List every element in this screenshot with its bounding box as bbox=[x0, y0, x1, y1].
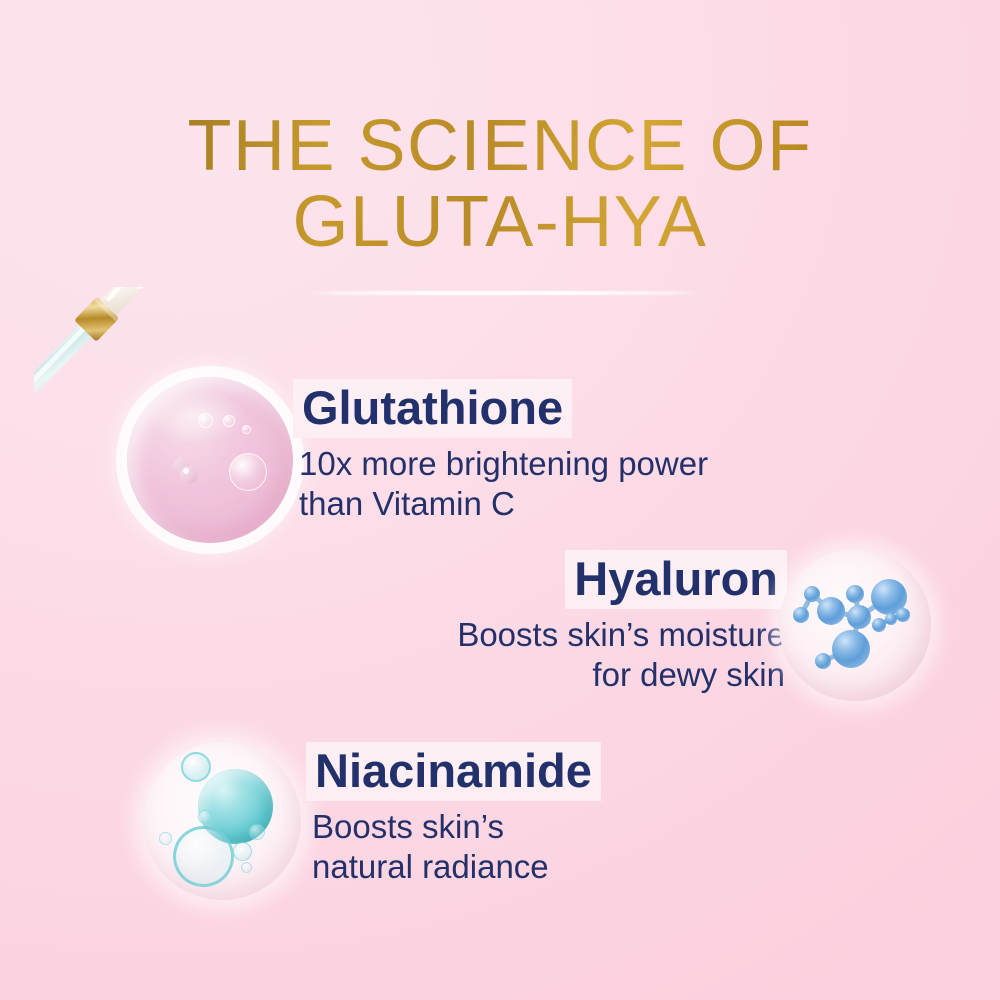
title-line-2: GLUTA-HYA bbox=[0, 184, 1000, 260]
bubble-small-6 bbox=[241, 862, 252, 873]
poster-canvas: THE SCIENCE OF GLUTA-HYA bbox=[0, 0, 1000, 1000]
title-line-1: THE SCIENCE OF bbox=[0, 108, 1000, 184]
ingredient-block-glutathione: Glutathione 10x more brightening power t… bbox=[293, 379, 708, 524]
title-divider bbox=[308, 291, 700, 295]
ingredient-name-glutathione: Glutathione bbox=[293, 379, 572, 438]
bubble-small-2 bbox=[233, 842, 252, 861]
bubble-small-5 bbox=[159, 832, 172, 845]
ingredient-description-glutathione: 10x more brightening power than Vitamin … bbox=[299, 444, 708, 524]
bubble-small-1 bbox=[181, 752, 211, 782]
ingredient-name-niacinamide: Niacinamide bbox=[306, 742, 601, 801]
ingredient-block-hyaluron: Hyaluron Boosts skin’s moisture for dewy… bbox=[457, 550, 787, 695]
molecule-icon bbox=[779, 549, 931, 701]
bubble-ring bbox=[173, 826, 234, 887]
molecule-structure bbox=[779, 549, 931, 701]
page-title: THE SCIENCE OF GLUTA-HYA bbox=[0, 108, 1000, 260]
ingredient-description-niacinamide: Boosts skin’s natural radiance bbox=[312, 807, 601, 887]
ingredient-block-niacinamide: Niacinamide Boosts skin’s natural radian… bbox=[306, 742, 601, 887]
dropper-icon bbox=[34, 287, 264, 517]
water-bubbles-icon bbox=[143, 742, 301, 900]
bubble-small-3 bbox=[249, 824, 265, 840]
ingredient-description-hyaluron: Boosts skin’s moisture for dewy skin bbox=[457, 615, 785, 695]
bubble-small-4 bbox=[198, 810, 212, 824]
serum-dropper-dish-icon bbox=[30, 285, 330, 535]
ingredient-name-hyaluron: Hyaluron bbox=[565, 550, 787, 609]
